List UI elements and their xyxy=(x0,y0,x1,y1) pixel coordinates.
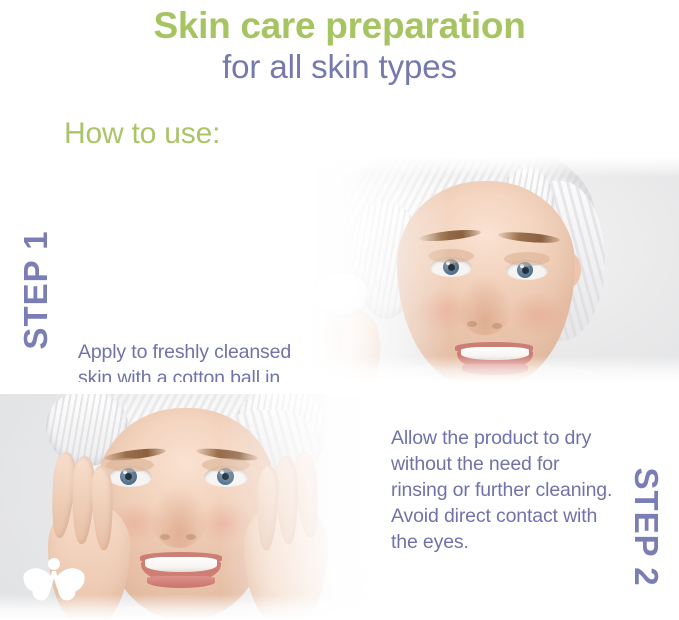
skincare-infographic: Skin care preparation for all skin types… xyxy=(0,0,679,620)
nostril-right xyxy=(186,534,196,540)
step-1-label: STEP 1 xyxy=(17,210,55,370)
cheek-right xyxy=(509,293,565,335)
butterfly-leaf-logo xyxy=(22,554,86,606)
pupil-left xyxy=(448,264,455,271)
step-2-text-inner: Allow the product to dry without the nee… xyxy=(391,425,617,555)
how-to-use-heading: How to use: xyxy=(64,117,220,151)
page-title: Skin care preparation xyxy=(0,4,679,47)
lower-lip xyxy=(147,576,215,588)
teeth xyxy=(145,557,217,572)
hand-left-nail xyxy=(57,454,70,464)
eyelid-right xyxy=(504,252,550,266)
eyelid-left xyxy=(106,458,154,472)
photo-fade-bottom xyxy=(259,356,679,382)
photo-fade-top xyxy=(259,157,679,177)
pupil-right xyxy=(522,267,529,274)
step-1-photo xyxy=(259,157,679,382)
nostril-right xyxy=(492,323,502,329)
header: Skin care preparation for all skin types xyxy=(0,0,679,95)
page-subtitle: for all skin types xyxy=(0,47,679,87)
step-2-label: STEP 2 xyxy=(627,447,665,607)
photo-fade-right xyxy=(220,394,420,620)
nostril-left xyxy=(160,534,170,540)
nostril-left xyxy=(467,321,477,327)
pupil-left xyxy=(125,473,132,480)
step-1-text: Apply to freshly cleansed skin with a co… xyxy=(78,339,298,382)
step-2-panel: Allow the product to dry without the nee… xyxy=(0,394,679,620)
step-1-panel: Apply to freshly cleansed skin with a co… xyxy=(0,157,679,382)
